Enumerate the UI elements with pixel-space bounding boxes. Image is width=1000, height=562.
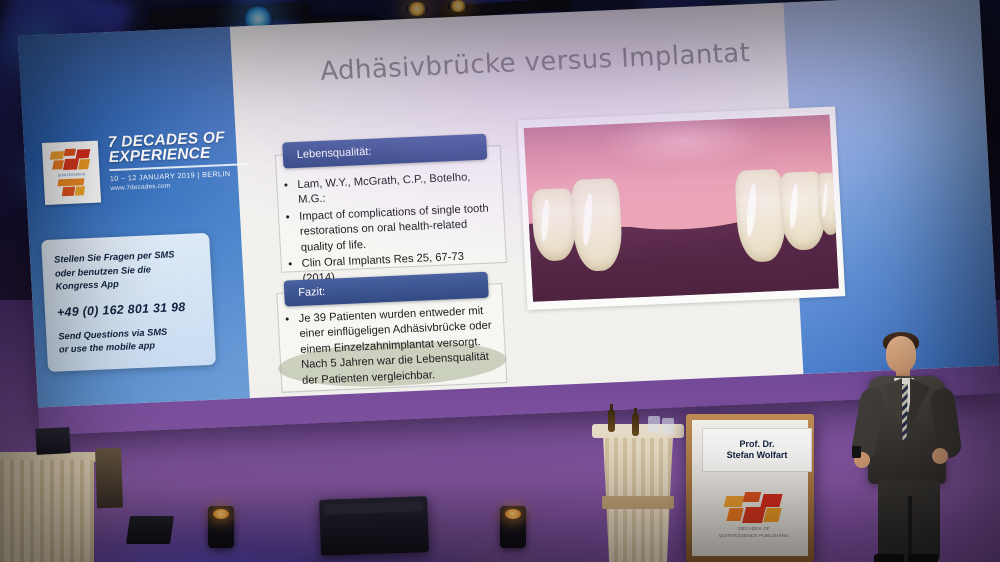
table-drape <box>0 460 94 562</box>
logo-caption: QUINTESSENCE <box>58 172 86 177</box>
logo-mark-top <box>50 148 91 172</box>
lectern-front-panel: Prof. Dr. Stefan Wolfart DECADES OF QUIN… <box>692 420 808 556</box>
lectern-logo-icon: DECADES OF QUINTESSENCE PUBLISHING <box>714 492 794 544</box>
box-tab-label: Fazit: <box>298 286 326 299</box>
sms-question-card: Stellen Sie Fragen per SMS oder benutzen… <box>41 233 216 372</box>
presenter-hand-right <box>932 448 948 464</box>
cocktail-table <box>592 424 684 562</box>
presenter-leg-separation <box>908 496 912 562</box>
floor-monitor-speaker <box>126 516 174 544</box>
sms-phone-number: +49 (0) 162 801 31 98 <box>57 299 202 319</box>
quintessence-7-logo-icon: QUINTESSENCE <box>42 141 101 205</box>
glass-icon <box>662 418 674 434</box>
bullet-list-fazit: Je 39 Patienten wurden entweder mit eine… <box>285 303 503 390</box>
bullet-list-lebensqualitaet: Lam, W.Y., McGrath, C.P., Botelho, M.G.:… <box>284 169 502 289</box>
presentation-clicker-icon <box>852 446 861 458</box>
conference-stage-scene: QUINTESSENCE 7 DECADES OF EXPERIENCE 10 … <box>0 0 1000 562</box>
intraoral-image <box>524 115 839 302</box>
cocktail-table-sash <box>602 496 674 509</box>
logo-mark <box>725 492 783 524</box>
moving-head-light-icon <box>500 506 526 548</box>
presenter-shoe <box>908 554 938 562</box>
brand-title-line2: EXPERIENCE <box>108 144 259 165</box>
bottle-icon <box>608 410 615 432</box>
amber-lamp-icon <box>406 2 428 16</box>
congress-branding: 7 DECADES OF EXPERIENCE 10 – 12 JANUARY … <box>108 130 261 192</box>
chair <box>95 448 123 509</box>
presenter-head <box>886 336 916 372</box>
list-item: Impact of complications of single tooth … <box>299 201 500 256</box>
confidence-monitor <box>319 496 429 556</box>
nameplate-title: Prof. Dr. <box>739 439 774 450</box>
side-table <box>0 452 98 562</box>
laptop-icon <box>35 427 70 455</box>
glass-icon <box>648 416 660 432</box>
lectern-logo-caption-2: QUINTESSENCE PUBLISHING <box>719 533 789 538</box>
presenter-shoe <box>874 554 904 562</box>
box-tab-label: Lebensqualität: <box>297 146 372 161</box>
presenter-figure <box>852 336 984 562</box>
amber-lamp-icon <box>448 0 468 12</box>
moving-head-light-icon <box>208 506 234 548</box>
bottle-icon <box>632 414 639 436</box>
speaker-nameplate: Prof. Dr. Stefan Wolfart <box>702 428 812 472</box>
clinical-photo <box>517 106 845 310</box>
nameplate-name: Stefan Wolfart <box>727 450 788 461</box>
lectern: Prof. Dr. Stefan Wolfart DECADES OF QUIN… <box>686 414 814 562</box>
logo-mark-bottom <box>52 178 93 198</box>
list-item: Je 39 Patienten wurden entweder mit eine… <box>298 303 503 389</box>
lectern-logo-caption-1: DECADES OF <box>738 526 770 531</box>
